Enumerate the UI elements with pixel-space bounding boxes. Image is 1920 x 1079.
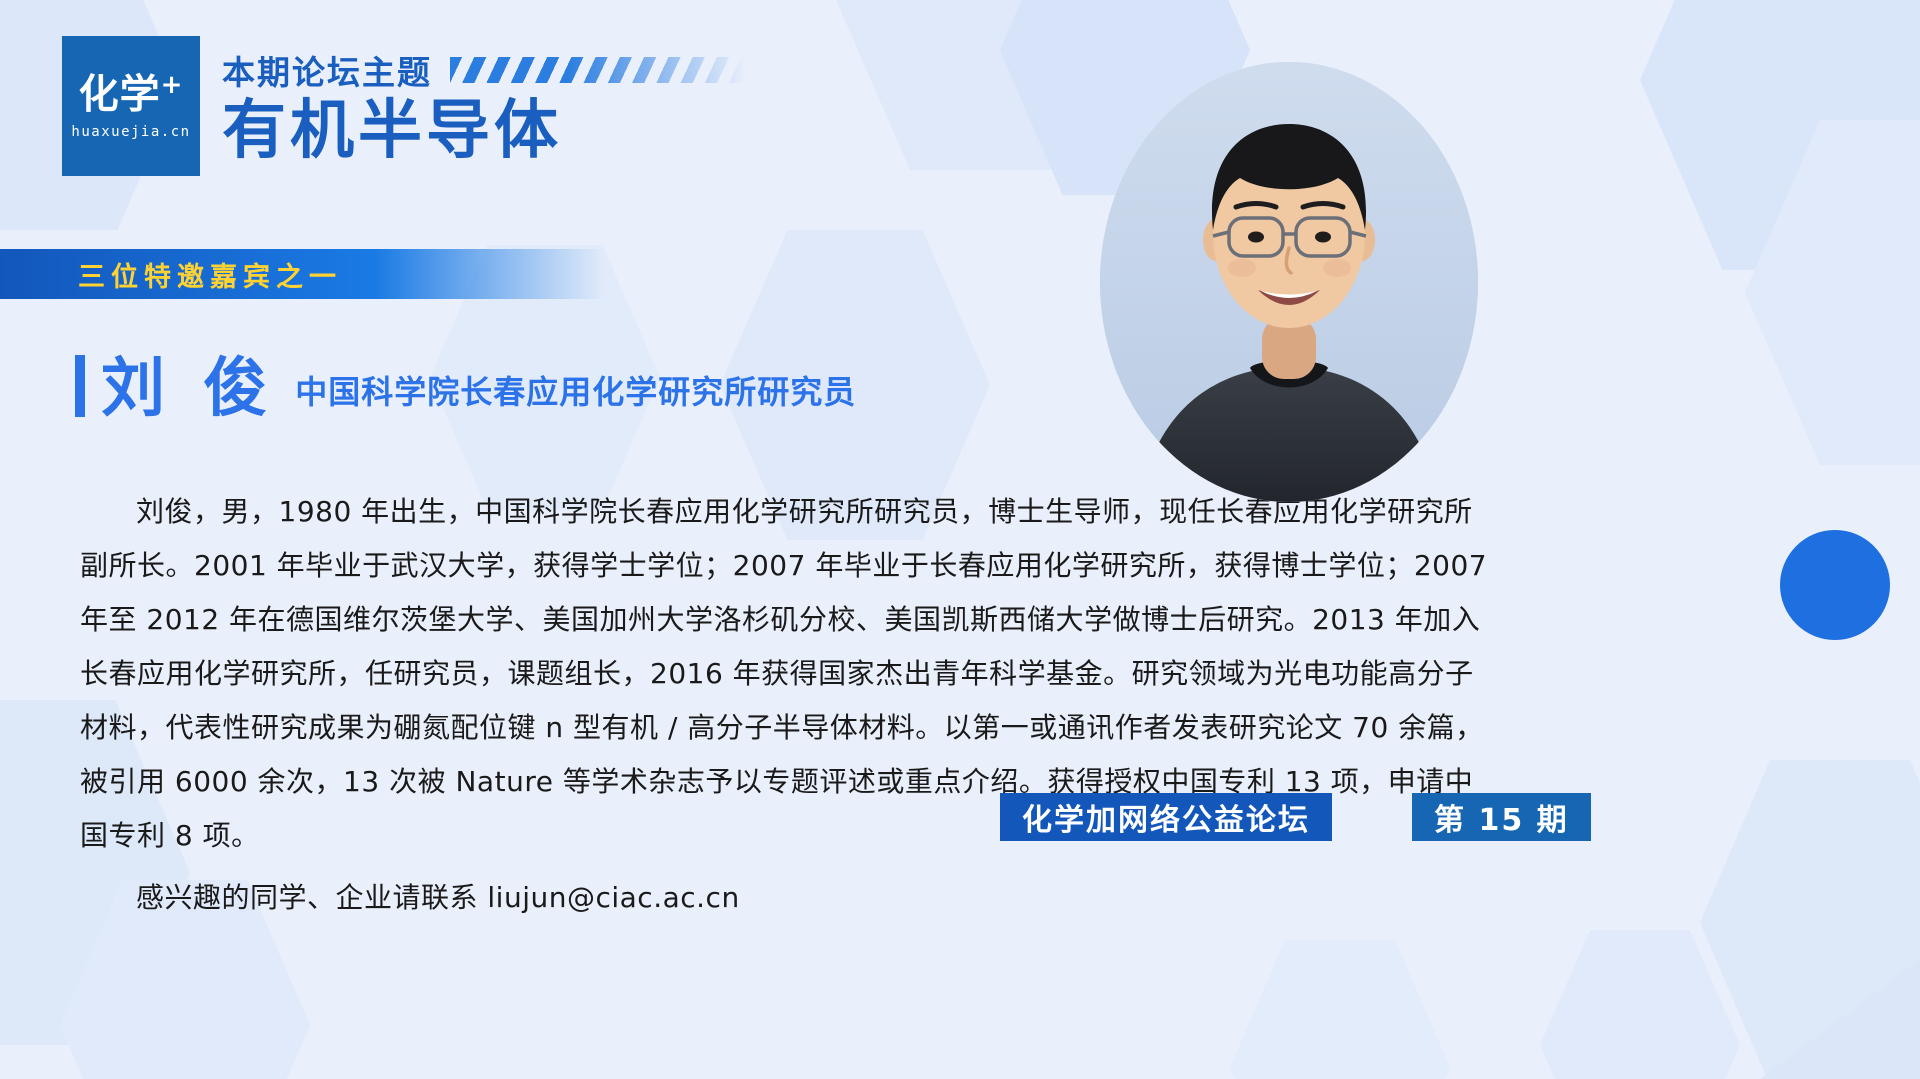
guest-affiliation: 中国科学院长春应用化学研究所研究员 [295, 367, 856, 413]
blue-circle-decor [1780, 530, 1890, 640]
bio-contact: 感兴趣的同学、企业请联系 liujun@ciac.ac.cn [80, 871, 1500, 925]
issue-number-badge: 第 15 期 [1412, 793, 1591, 841]
forum-name-label: 化学加网络公益论坛 [1022, 795, 1310, 839]
logo-mark-text: 化学 [79, 71, 161, 117]
name-accent-bar-icon [75, 355, 85, 417]
guest-name: 刘 俊 [101, 357, 275, 421]
issue-number-label: 第 15 期 [1434, 795, 1569, 839]
corner-triangle-decor [1760, 959, 1920, 1079]
hexagon-decor [1540, 930, 1740, 1079]
guest-name-row: 刘 俊 中国科学院长春应用化学研究所研究员 [75, 355, 856, 421]
topic-label-row: 本期论坛主题 [222, 46, 745, 94]
guest-portrait [1100, 62, 1478, 502]
topic-label: 本期论坛主题 [222, 46, 432, 94]
site-logo[interactable]: 化学+ huaxuejia.cn [62, 36, 200, 176]
guest-banner-label: 三位特邀嘉宾之一 [78, 255, 342, 294]
guest-bio: 刘俊，男，1980 年出生，中国科学院长春应用化学研究所研究员，博士生导师，现任… [80, 485, 1500, 925]
logo-mark-icon: 化学+ [79, 72, 184, 114]
logo-url: huaxuejia.cn [71, 124, 190, 140]
diagonal-stripes-icon [450, 57, 745, 83]
portrait-illustration-icon [1100, 62, 1478, 502]
guest-banner: 三位特邀嘉宾之一 [0, 249, 605, 299]
logo-plus-icon: + [161, 70, 184, 100]
forum-name-badge: 化学加网络公益论坛 [1000, 793, 1332, 841]
page-title: 有机半导体 [222, 96, 562, 166]
hexagon-decor [1230, 940, 1450, 1079]
